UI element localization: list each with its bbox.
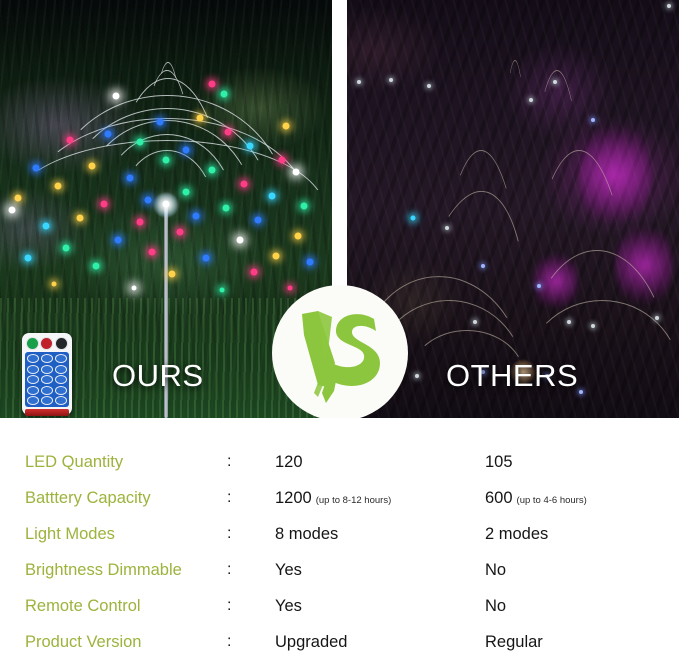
spec-label: Brightness Dimmable	[25, 552, 182, 588]
vs-mark-icon	[288, 301, 392, 405]
spec-colon: :	[227, 588, 231, 624]
spec-colon: :	[227, 624, 231, 660]
spec-value-ours: Yes	[275, 552, 306, 591]
spec-label: Batttery Capacity	[25, 480, 151, 516]
table-row: Brightness Dimmable : Yes No	[0, 552, 679, 588]
remote-keypad	[25, 352, 69, 407]
label-ours: OURS	[112, 358, 204, 394]
spec-value-ours: 120	[275, 444, 307, 483]
table-row: Product Version : Upgraded Regular	[0, 624, 679, 660]
table-row: Light Modes : 8 modes 2 modes	[0, 516, 679, 552]
remote-power-on-button	[26, 337, 39, 350]
spec-label: Light Modes	[25, 516, 115, 552]
label-others: OTHERS	[446, 358, 578, 394]
remote-top-buttons	[25, 337, 69, 350]
vs-badge	[272, 285, 408, 418]
spec-value-others: 600(up to 4-6 hours)	[485, 480, 587, 519]
spec-value-ours: 8 modes	[275, 516, 342, 555]
spec-value-ours: 1200(up to 8-12 hours)	[275, 480, 391, 519]
remote-control-graphic	[22, 333, 72, 415]
spec-label: Product Version	[25, 624, 141, 660]
spec-value-others: Regular	[485, 624, 547, 663]
remote-mode-button	[55, 337, 68, 350]
spec-colon: :	[227, 516, 231, 552]
remote-power-off-button	[40, 337, 53, 350]
spec-value-others: 2 modes	[485, 516, 552, 555]
spec-value-others: No	[485, 552, 510, 591]
spec-value-others: 105	[485, 444, 517, 483]
spec-value-ours: Upgraded	[275, 624, 351, 663]
remote-brand-strip	[25, 409, 69, 416]
spec-colon: :	[227, 480, 231, 516]
table-row: Remote Control : Yes No	[0, 588, 679, 624]
spec-comparison-table: LED Quantity : 120 105 Batttery Capacity…	[0, 418, 679, 660]
table-row: LED Quantity : 120 105	[0, 444, 679, 480]
spec-label: Remote Control	[25, 588, 141, 624]
table-row: Batttery Capacity : 1200(up to 8-12 hour…	[0, 480, 679, 516]
spec-label: LED Quantity	[25, 444, 123, 480]
spec-colon: :	[227, 444, 231, 480]
spec-value-ours: Yes	[275, 588, 306, 627]
spec-value-others: No	[485, 588, 510, 627]
spec-colon: :	[227, 552, 231, 588]
photo-comparison-band: OURS	[0, 0, 679, 418]
